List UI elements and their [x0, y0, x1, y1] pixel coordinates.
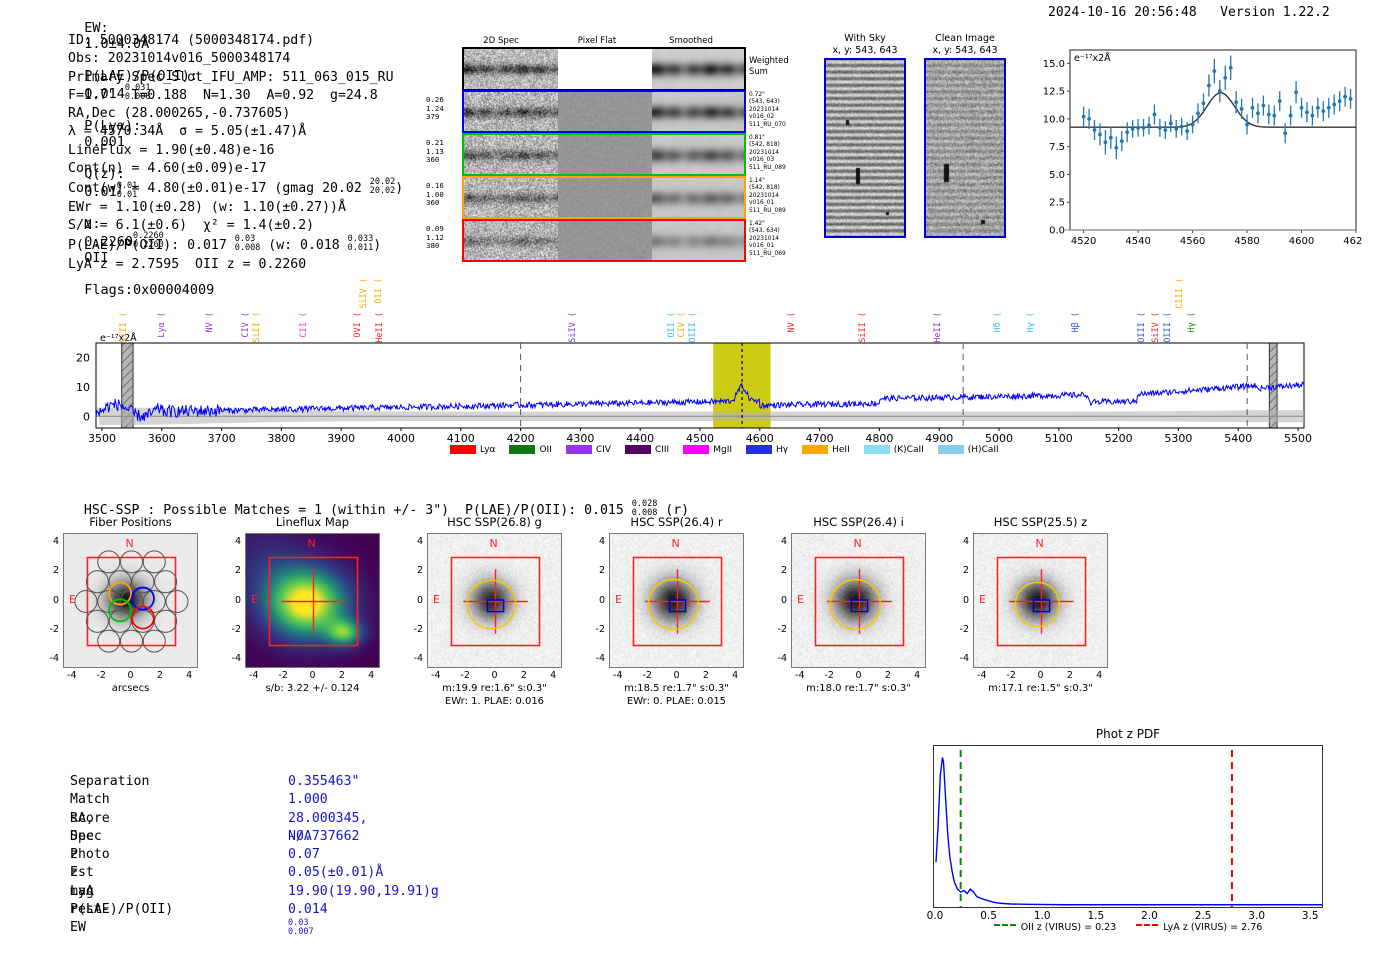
- svg-text:5400: 5400: [1224, 432, 1252, 445]
- sky-panel-image: [924, 58, 1006, 238]
- value-uncertainty: 0.030.007: [288, 919, 314, 937]
- legend-entry: Lyα: [450, 445, 495, 455]
- legend-entry: Hγ: [746, 445, 788, 455]
- cutout-subcaption-1: arcsecs: [41, 683, 220, 694]
- compass-east-label: E: [433, 593, 440, 606]
- cutout-x-tick: 4: [723, 670, 747, 681]
- spec2d-column-title: Smoothed: [656, 36, 726, 46]
- legend-swatch: [864, 445, 890, 454]
- spec2d-row: [462, 219, 746, 262]
- cutout-x-tick: 0: [119, 670, 143, 681]
- cutout-x-tick: -4: [606, 670, 630, 681]
- sky-panel-coords: x, y: 543, 643: [924, 45, 1006, 56]
- cutout-title: HSC SSP(26.4) r: [591, 515, 762, 529]
- spectrum-line-label: Hγ (: [1187, 312, 1197, 332]
- svg-text:5100: 5100: [1045, 432, 1073, 445]
- spectrum-line-label: CIV (: [677, 312, 687, 338]
- cutout-title: HSC SSP(26.4) i: [773, 515, 944, 529]
- compass-north-label: N: [672, 537, 680, 550]
- cutout-y-tick: -4: [583, 653, 605, 664]
- cutout-x-tick: 4: [1087, 670, 1111, 681]
- legend-label: HeII: [832, 445, 850, 455]
- row-value: 0.355463": [288, 773, 359, 791]
- spec2d-row-left-values: 0.261.24379: [426, 96, 444, 122]
- cutout-image: [245, 533, 380, 668]
- spec2d-row: [462, 90, 746, 133]
- photz-x-tick: 0.0: [921, 910, 949, 922]
- info-seeing-params: F=1.7" T=0.188 N=1.30 A=0.92 g=24.8: [68, 87, 403, 105]
- svg-text:e⁻¹⁷x2Å: e⁻¹⁷x2Å: [1074, 52, 1111, 64]
- svg-text:3700: 3700: [208, 432, 236, 445]
- spec2d-pixelflat-strip: [558, 135, 652, 174]
- spectrum-line-label: OIII (: [688, 312, 698, 343]
- cutout-overlay: [428, 534, 562, 668]
- cutout-x-tick: -2: [453, 670, 477, 681]
- compass-east-label: E: [979, 593, 986, 606]
- spec2d-row: [462, 133, 746, 176]
- legend-swatch: [938, 445, 964, 454]
- cutout-y-tick: -4: [219, 653, 241, 664]
- spectrum-line-label: Hβ (: [1071, 312, 1081, 332]
- spec2d-row-left-values: 0.161.00360: [426, 182, 444, 208]
- photz-legend: OII z (VIRUS) = 0.23LyA z (VIRUS) = 2.76: [933, 922, 1323, 933]
- spectrum-line-label: SiII (: [119, 312, 129, 343]
- legend-entry: (K)CaII: [864, 445, 924, 455]
- svg-text:4560: 4560: [1180, 236, 1205, 247]
- legend-swatch: [625, 445, 651, 454]
- svg-text:5000: 5000: [985, 432, 1013, 445]
- photz-x-tick: 2.0: [1135, 910, 1163, 922]
- cutout-title: Lineflux Map: [227, 515, 398, 529]
- cutout-x-tick: 2: [512, 670, 536, 681]
- spectrum-line-label: OIII (: [1137, 312, 1147, 343]
- cutout-image: [63, 533, 198, 668]
- svg-text:4000: 4000: [387, 432, 415, 445]
- svg-text:4100: 4100: [447, 432, 475, 445]
- row-value: 19.90(19.90,19.91)g: [288, 883, 439, 901]
- svg-text:3600: 3600: [148, 432, 176, 445]
- cutout-y-tick: -2: [765, 624, 787, 635]
- cutout-y-tick: 2: [765, 565, 787, 576]
- weighted-sum-row: [462, 47, 746, 91]
- cutout-x-tick: -2: [817, 670, 841, 681]
- weighted-sum-smoothed: [652, 49, 744, 89]
- cutout-x-tick: -2: [271, 670, 295, 681]
- svg-text:4900: 4900: [925, 432, 953, 445]
- svg-text:4700: 4700: [806, 432, 834, 445]
- spec2d-column-title: 2D Spec: [466, 36, 536, 46]
- info-sn-chi2: S/N = 6.1(±0.6) χ² = 1.4(±0.2): [68, 217, 403, 235]
- spectrum-line-label: NV (: [787, 312, 797, 332]
- spectrum-line-label: SiII (: [858, 312, 868, 343]
- cutout-x-tick: -2: [999, 670, 1023, 681]
- compass-north-label: N: [490, 537, 498, 550]
- legend-entry: CIV: [566, 445, 611, 455]
- svg-text:4540: 4540: [1125, 236, 1150, 247]
- legend-entry: CIII: [625, 445, 669, 455]
- legend-swatch: [450, 445, 476, 454]
- spectrum-line-label: HeII (: [375, 312, 385, 343]
- cutout-x-tick: 0: [1029, 670, 1053, 681]
- cutout-y-tick: 4: [219, 536, 241, 547]
- weighted-sum-2dspec: [464, 49, 558, 89]
- photz-legend-label: LyA z (VIRUS) = 2.76: [1163, 922, 1262, 933]
- svg-text:4620: 4620: [1343, 236, 1362, 247]
- cutout-y-tick: -4: [765, 653, 787, 664]
- cutout-x-tick: 4: [905, 670, 929, 681]
- cutout-overlay: [246, 534, 380, 668]
- legend-label: MgII: [713, 445, 732, 455]
- hsc-ssp-header: HSC-SSP : Possible Matches = 1 (within +…: [68, 485, 689, 518]
- cutout-x-tick: 2: [1058, 670, 1082, 681]
- svg-text:4300: 4300: [566, 432, 594, 445]
- row-key: Separation: [70, 773, 149, 791]
- photz-x-tick: 1.5: [1082, 910, 1110, 922]
- compass-north-label: N: [1036, 537, 1044, 550]
- row-key: mag: [70, 883, 94, 901]
- info-radec: RA,Dec (28.000265,-0.737605): [68, 105, 403, 123]
- cutout-y-tick: 0: [765, 595, 787, 606]
- legend-label: (K)CaII: [894, 445, 924, 455]
- cutout-subcaption-2: EWr: 1. PLAE: 0.016: [405, 696, 584, 707]
- cutout-y-tick: -4: [947, 653, 969, 664]
- svg-text:2.5: 2.5: [1049, 198, 1065, 209]
- cutout-overlay: [64, 534, 198, 668]
- cutout-y-tick: -4: [401, 653, 423, 664]
- cutout-y-tick: 4: [765, 536, 787, 547]
- cutout-x-tick: -4: [970, 670, 994, 681]
- cutout-x-tick: 4: [177, 670, 201, 681]
- photz-legend-label: OII z (VIRUS) = 0.23: [1021, 922, 1117, 933]
- spectrum-line-label: SiIV (: [568, 312, 578, 343]
- spec2d-row-left-values: 0.091.12380: [426, 225, 444, 251]
- photz-x-tick: 0.5: [975, 910, 1003, 922]
- cutout-y-tick: 2: [219, 565, 241, 576]
- svg-text:3800: 3800: [267, 432, 295, 445]
- cutout-title: HSC SSP(25.5) z: [955, 515, 1126, 529]
- photz-legend-entry: LyA z (VIRUS) = 2.76: [1136, 922, 1262, 933]
- svg-text:10: 10: [76, 381, 90, 394]
- svg-text:3900: 3900: [327, 432, 355, 445]
- cutout-image: [609, 533, 744, 668]
- compass-east-label: E: [615, 593, 622, 606]
- spec2d-row-right-values: 0.81"(542, 818)20231014v016_03511_RU_089: [749, 135, 786, 172]
- spectrum-line-label: HeII (: [933, 312, 943, 343]
- spectrum-line-label: Lyα (: [157, 312, 167, 338]
- cutout-y-tick: 2: [401, 565, 423, 576]
- legend-label: CIII: [655, 445, 669, 455]
- spectrum-line-label: OII (: [667, 312, 677, 338]
- svg-text:4200: 4200: [507, 432, 535, 445]
- compass-north-label: N: [308, 537, 316, 550]
- legend-label: CIV: [596, 445, 611, 455]
- spectrum-line-label: CII (: [299, 312, 309, 338]
- legend-swatch: [566, 445, 592, 454]
- row-value: 0.014 0.030.007: [288, 901, 328, 940]
- cutout-x-tick: -2: [89, 670, 113, 681]
- cutout-subcaption-1: m:18.0 re:1.7" s:0.3": [769, 683, 948, 694]
- compass-north-label: N: [126, 537, 134, 550]
- emission-line-fit-chart: 0.02.55.07.510.012.515.04520454045604580…: [1032, 38, 1362, 260]
- cutout-x-tick: -4: [60, 670, 84, 681]
- cutout-y-tick: -2: [37, 624, 59, 635]
- legend-swatch: [683, 445, 709, 454]
- cutout-x-tick: 0: [847, 670, 871, 681]
- svg-text:10.0: 10.0: [1043, 114, 1065, 125]
- spec2d-row-right-values: 1.14"(542, 818)20231014v016_01511_RU_089: [749, 178, 786, 215]
- photz-x-tick: 2.5: [1189, 910, 1217, 922]
- cutout-x-tick: 2: [148, 670, 172, 681]
- cutout-subcaption-1: m:19.9 re:1.6" s:0.3": [405, 683, 584, 694]
- cutout-x-tick: 4: [541, 670, 565, 681]
- svg-text:4600: 4600: [1289, 236, 1314, 247]
- spectrum-line-label: CIII (: [1175, 278, 1185, 309]
- row-value: N/A: [288, 828, 312, 846]
- legend-swatch: [802, 445, 828, 454]
- spectrum-line-label: Hγ (: [1026, 312, 1036, 332]
- legend-label: Hγ: [776, 445, 788, 455]
- photz-x-tick: 1.0: [1028, 910, 1056, 922]
- photz-legend-dash: [994, 924, 1016, 926]
- cutout-image: [791, 533, 926, 668]
- svg-text:4500: 4500: [686, 432, 714, 445]
- info-lineflux: LineFlux = 1.90(±0.48)e-16: [68, 142, 403, 160]
- svg-text:4580: 4580: [1234, 236, 1259, 247]
- row-key: P(LAE)/P(OII): [70, 901, 173, 919]
- cutout-y-tick: 0: [219, 595, 241, 606]
- spectrum-line-label: OIII (: [1163, 312, 1173, 343]
- legend-entry: (H)CaII: [938, 445, 999, 455]
- info-obs: Obs: 20231014v016_5000348174: [68, 50, 403, 68]
- cutout-image: [427, 533, 562, 668]
- info-primary-spec: Primary Spec_Slot_IFU_AMP: 511_063_015_R…: [68, 69, 403, 87]
- compass-east-label: E: [251, 593, 258, 606]
- cutout-x-tick: 0: [665, 670, 689, 681]
- cutout-y-tick: 4: [401, 536, 423, 547]
- photz-legend-entry: OII z (VIRUS) = 0.23: [994, 922, 1117, 933]
- cutout-y-tick: 2: [583, 565, 605, 576]
- cutout-x-tick: 4: [359, 670, 383, 681]
- spec2d-column-title: Pixel Flat: [562, 36, 632, 46]
- cutout-x-tick: -4: [788, 670, 812, 681]
- cutout-title: Fiber Positions: [45, 515, 216, 529]
- weighted-sum-label: Weighted: [749, 55, 789, 65]
- spec2d-2dspec-strip: [464, 221, 558, 260]
- cutout-y-tick: 0: [583, 595, 605, 606]
- compass-east-label: E: [797, 593, 804, 606]
- spec2d-2dspec-strip: [464, 178, 558, 217]
- spec2d-smoothed-strip: [652, 178, 744, 217]
- cutout-y-tick: 0: [401, 595, 423, 606]
- spec2d-pixelflat-strip: [558, 221, 652, 260]
- spectrum-line-label: SiIV (: [359, 278, 369, 309]
- sky-panel-title: Clean Image: [924, 33, 1006, 44]
- cutout-x-tick: 0: [483, 670, 507, 681]
- cutout-y-tick: -2: [401, 624, 423, 635]
- photz-title: Phot z PDF: [933, 727, 1323, 741]
- cutout-overlay: [974, 534, 1108, 668]
- cutout-y-tick: -2: [219, 624, 241, 635]
- spectrum-svg: 0102035003600370038003900400041004200430…: [0, 272, 1400, 452]
- cutout-x-tick: 2: [330, 670, 354, 681]
- svg-text:0.0: 0.0: [1049, 226, 1065, 237]
- info-ewr: EWr = 1.10(±0.28) (w: 1.10(±0.27))Å: [68, 199, 403, 217]
- svg-text:20: 20: [76, 352, 90, 365]
- spec2d-pixelflat-strip: [558, 92, 652, 131]
- svg-text:0: 0: [83, 410, 90, 423]
- spectrum-line-label: OII (: [374, 278, 384, 304]
- info-lambda-sigma: λ = 4570.34Å σ = 5.05(±1.47)Å: [68, 123, 403, 141]
- sky-panel-image: [824, 58, 906, 238]
- photz-svg: [934, 746, 1324, 909]
- sky-panel-coords: x, y: 543, 643: [824, 45, 906, 56]
- spectrum-legend: LyαOIICIVCIIIMgIIHγHeII(K)CaII(H)CaII: [450, 445, 1013, 455]
- legend-swatch: [509, 445, 535, 454]
- spec2d-pixelflat-strip: [558, 178, 652, 217]
- compass-east-label: E: [69, 593, 76, 606]
- spec2d-smoothed-strip: [652, 135, 744, 174]
- cutout-subcaption-1: m:17.1 re:1.5" s:0.3": [951, 683, 1130, 694]
- svg-text:4520: 4520: [1071, 236, 1096, 247]
- cutout-x-tick: -4: [424, 670, 448, 681]
- cutout-y-tick: 2: [947, 565, 969, 576]
- legend-entry: MgII: [683, 445, 732, 455]
- legend-entry: OII: [509, 445, 551, 455]
- spectrum-line-label: SiIV (: [1151, 312, 1161, 343]
- cutout-y-tick: 0: [947, 595, 969, 606]
- cutout-y-tick: -2: [947, 624, 969, 635]
- cutout-y-tick: -2: [583, 624, 605, 635]
- spec2d-smoothed-strip: [652, 221, 744, 260]
- cutout-y-tick: -4: [37, 653, 59, 664]
- spectrum-line-label: NV (: [205, 312, 215, 332]
- spectrum-line-label: OVI (: [353, 312, 363, 338]
- spec2d-2dspec-strip: [464, 135, 558, 174]
- weighted-sum-label-2: Sum: [749, 66, 768, 76]
- spec2d-row-right-values: 0.72"(543, 643)20231014v016_02511_RU_070: [749, 92, 786, 129]
- info-cont-w: Cont(w) = 4.80(±0.01)e-17 (gmag 20.02 20…: [68, 178, 403, 198]
- cutout-subcaption-2: EWr: 0. PLAE: 0.015: [587, 696, 766, 707]
- spec2d-2dspec-strip: [464, 92, 558, 131]
- info-id: ID: 5000348174 (5000348174.pdf): [68, 32, 403, 50]
- svg-text:5300: 5300: [1164, 432, 1192, 445]
- svg-text:4400: 4400: [626, 432, 654, 445]
- photz-curve: [936, 757, 1322, 904]
- cutout-overlay: [792, 534, 926, 668]
- info-cont-n: Cont(n) = 4.60(±0.09)e-17: [68, 160, 403, 178]
- cutout-subcaption-1: s/b: 3.22 +/- 0.124: [223, 683, 402, 694]
- svg-text:4800: 4800: [865, 432, 893, 445]
- svg-text:5500: 5500: [1284, 432, 1312, 445]
- info-plae: P(LAE)/P(OII): 0.017 0.030.008 (w: 0.018…: [68, 235, 403, 255]
- cutout-image: [973, 533, 1108, 668]
- legend-label: Lyα: [480, 445, 495, 455]
- cutout-x-tick: 2: [694, 670, 718, 681]
- sky-panel-title: With Sky: [824, 33, 906, 44]
- compass-north-label: N: [854, 537, 862, 550]
- legend-swatch: [746, 445, 772, 454]
- cutout-y-tick: 4: [37, 536, 59, 547]
- cutout-y-tick: 4: [947, 536, 969, 547]
- cutout-x-tick: 0: [301, 670, 325, 681]
- object-info-block: ID: 5000348174 (5000348174.pdf) Obs: 202…: [68, 32, 403, 274]
- linefit-svg: 0.02.55.07.510.012.515.04520454045604580…: [1032, 38, 1362, 260]
- weighted-sum-pixelflat: [558, 49, 652, 89]
- photz-x-tick: 3.0: [1243, 910, 1271, 922]
- spectrum-line-label: CIV (: [241, 312, 251, 338]
- legend-entry: HeII: [802, 445, 850, 455]
- svg-text:12.5: 12.5: [1043, 87, 1065, 98]
- photz-plot-area: [933, 745, 1323, 908]
- spec2d-row: [462, 176, 746, 219]
- spectrum-line-label: SiII (: [252, 312, 262, 343]
- row-value: 0.05(±0.01)Å: [288, 864, 383, 882]
- cutout-x-tick: 2: [876, 670, 900, 681]
- weighted-sum-strips: [464, 49, 744, 89]
- svg-text:15.0: 15.0: [1043, 59, 1065, 70]
- cutout-overlay: [610, 534, 744, 668]
- spectrum-line-label: Hδ (: [993, 312, 1003, 332]
- timestamp-version: 2024-10-16 20:56:48 Version 1.22.2: [1048, 5, 1330, 20]
- spec2d-row-left-values: 0.211.13360: [426, 139, 444, 165]
- svg-text:5.0: 5.0: [1049, 170, 1065, 181]
- svg-text:7.5: 7.5: [1049, 142, 1065, 153]
- cutout-title: HSC SSP(26.8) g: [409, 515, 580, 529]
- legend-label: OII: [539, 445, 551, 455]
- svg-text:5200: 5200: [1105, 432, 1133, 445]
- cutout-y-tick: 4: [583, 536, 605, 547]
- cutout-y-tick: 0: [37, 595, 59, 606]
- spec2d-smoothed-strip: [652, 92, 744, 131]
- photz-legend-dash: [1136, 924, 1158, 926]
- cutout-x-tick: -2: [635, 670, 659, 681]
- svg-text:4600: 4600: [746, 432, 774, 445]
- cutout-y-tick: 2: [37, 565, 59, 576]
- cutout-x-tick: -4: [242, 670, 266, 681]
- row-value: 0.07: [288, 846, 320, 864]
- cutout-subcaption-1: m:18.5 re:1.7" s:0.3": [587, 683, 766, 694]
- photz-x-tick: 3.5: [1296, 910, 1324, 922]
- spec2d-row-right-values: 1.42"(543, 634)20231014v016_01511_RU_069: [749, 221, 786, 258]
- row-value: 1.000: [288, 791, 328, 809]
- svg-text:3500: 3500: [88, 432, 116, 445]
- legend-label: (H)CaII: [968, 445, 999, 455]
